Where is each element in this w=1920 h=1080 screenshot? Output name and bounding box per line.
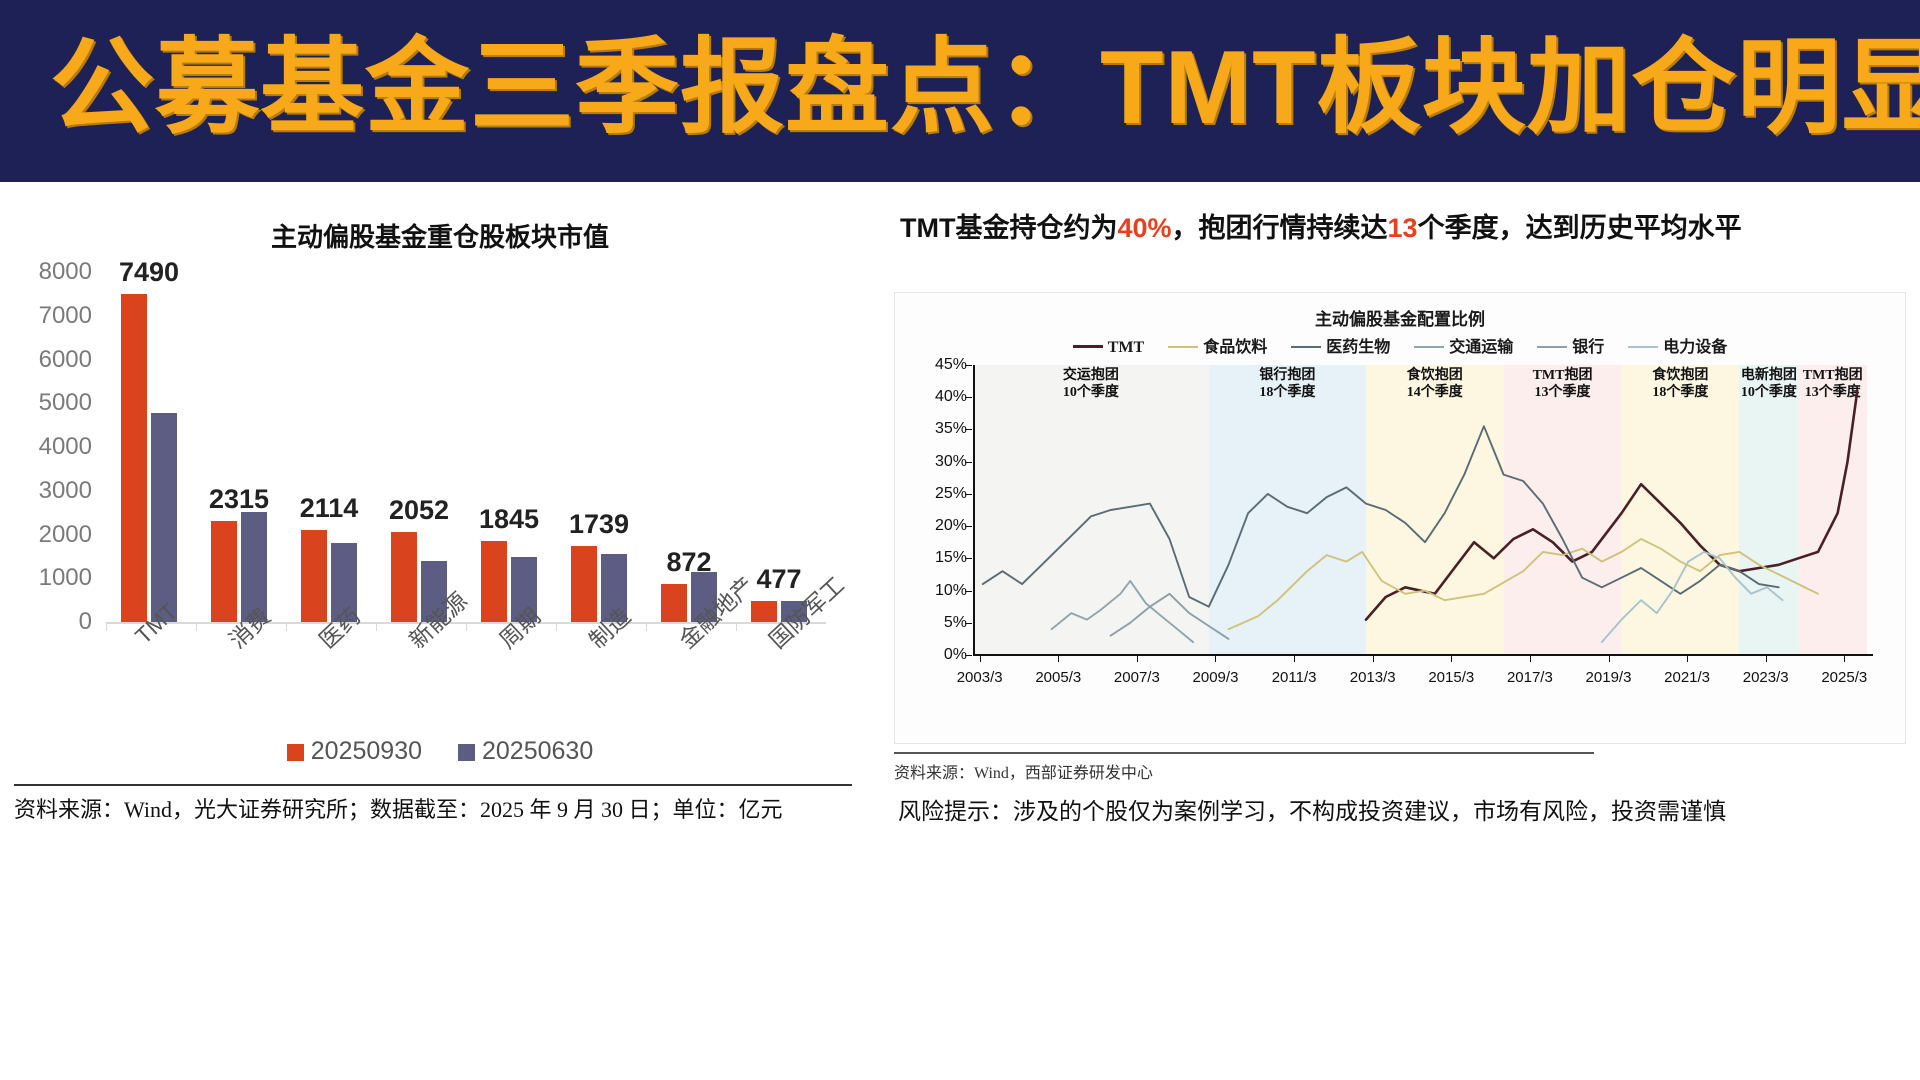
- line-chart-title: 主动偏股基金配置比例: [895, 305, 1905, 330]
- line-y-tick: 45%: [909, 356, 967, 374]
- line-legend-item-食品饮料: 食品饮料: [1168, 333, 1267, 357]
- line-x-tick-mark: [1058, 655, 1059, 662]
- bar-plot-area: 749023152114205218451739872477: [106, 272, 826, 624]
- bar-20250930: [301, 530, 327, 622]
- bar-y-tick: 8000: [20, 258, 92, 286]
- bar-group: 7490: [106, 272, 196, 622]
- line-x-tick: 2013/3: [1333, 669, 1413, 686]
- line-y-tick: 15%: [909, 549, 967, 567]
- headline-percent: 40%: [1117, 213, 1171, 243]
- line-x-tick-mark: [1294, 655, 1295, 662]
- legend-item-20250630: 20250630: [458, 737, 593, 767]
- line-y-tick: 20%: [909, 517, 967, 535]
- line-x-tick-mark: [1687, 655, 1688, 662]
- line-x-tick: 2021/3: [1647, 669, 1727, 686]
- line-x-tick: 2011/3: [1254, 669, 1334, 686]
- bar-group: 1845: [466, 272, 556, 622]
- line-plot-area: 0%5%10%15%20%25%30%35%40%45% 2003/32005/…: [973, 365, 1873, 655]
- line-series-电力设备: [1602, 552, 1783, 642]
- right-headline: TMT基金持仓约为40%，抱团行情持续达13个季度，达到历史平均水平: [900, 206, 1920, 245]
- line-series-食品饮料: [1229, 539, 1819, 629]
- bar-y-tick: 1000: [20, 564, 92, 592]
- line-y-tick-mark: [965, 397, 972, 398]
- line-legend-item-交通运输: 交通运输: [1414, 333, 1513, 357]
- line-x-tick: 2025/3: [1804, 669, 1884, 686]
- line-x-axis: 2003/32005/32007/32009/32011/32013/32015…: [933, 661, 1913, 691]
- line-x-tick-mark: [980, 655, 981, 662]
- line-y-tick: 10%: [909, 582, 967, 600]
- line-y-tick-mark: [965, 494, 972, 495]
- line-series-交通运输: [1052, 581, 1194, 642]
- bar-x-tick-mark: [736, 622, 737, 631]
- line-chart-card: 主动偏股基金配置比例 TMT食品饮料医药生物交通运输银行电力设备 0%5%10%…: [894, 292, 1906, 744]
- left-chart-panel: 主动偏股基金重仓股板块市值 80007000600050004000300020…: [0, 192, 880, 852]
- line-x-tick: 2009/3: [1175, 669, 1255, 686]
- line-y-tick-mark: [965, 558, 972, 559]
- line-chart-legend: TMT食品饮料医药生物交通运输银行电力设备: [895, 333, 1905, 357]
- bar-20250930: [211, 521, 237, 622]
- bar-20250930: [391, 532, 417, 622]
- headline-prefix: TMT基金持仓约为: [900, 213, 1117, 243]
- line-series-TMT: [1366, 391, 1857, 620]
- line-legend-label: 电力设备: [1663, 339, 1727, 356]
- right-source-note: 资料来源：Wind，西部证券研发中心: [894, 759, 1594, 783]
- bar-20250930: [121, 294, 147, 622]
- line-x-tick-mark: [1844, 655, 1845, 662]
- line-x-tick-mark: [1766, 655, 1767, 662]
- line-legend-swatch: [1628, 346, 1658, 348]
- banner-underline: [0, 182, 1920, 188]
- bar-x-tick-mark: [646, 622, 647, 631]
- line-legend-swatch: [1291, 346, 1321, 348]
- bar-group: 477: [736, 272, 826, 622]
- line-legend-swatch: [1537, 346, 1567, 348]
- line-legend-label: TMT: [1108, 339, 1144, 356]
- line-series-svg: [973, 365, 1873, 655]
- line-y-tick: 35%: [909, 420, 967, 438]
- bar-20250630: [151, 413, 177, 622]
- bar-y-tick: 7000: [20, 302, 92, 330]
- line-x-tick: 2007/3: [1097, 669, 1177, 686]
- line-legend-item-电力设备: 电力设备: [1628, 333, 1727, 357]
- headline-suffix: 个季度，达到历史平均水平: [1418, 213, 1742, 243]
- line-x-tick-mark: [1215, 655, 1216, 662]
- legend-label: 20250930: [311, 737, 422, 765]
- line-legend-label: 交通运输: [1449, 339, 1513, 356]
- line-legend-item-医药生物: 医药生物: [1291, 333, 1390, 357]
- left-source-note: 资料来源：Wind，光大证券研究所；数据截至：2025 年 9 月 30 日；单…: [14, 792, 874, 824]
- legend-swatch: [458, 744, 475, 761]
- line-y-axis: 0%5%10%15%20%25%30%35%40%45%: [909, 365, 967, 655]
- bar-y-tick: 6000: [20, 346, 92, 374]
- bar-y-tick: 5000: [20, 389, 92, 417]
- bar-y-tick: 4000: [20, 433, 92, 461]
- bar-group: 2052: [376, 272, 466, 622]
- bar-group: 2315: [196, 272, 286, 622]
- line-x-tick: 2023/3: [1726, 669, 1806, 686]
- line-y-tick-mark: [965, 655, 972, 656]
- right-source-divider: [894, 752, 1594, 754]
- bar-x-tick-mark: [196, 622, 197, 631]
- bar-y-tick: 0: [20, 608, 92, 636]
- headline-mid: ，抱团行情持续达: [1172, 213, 1388, 243]
- bar-y-tick: 2000: [20, 521, 92, 549]
- bar-x-tick-mark: [286, 622, 287, 631]
- line-legend-item-TMT: TMT: [1073, 339, 1144, 357]
- line-x-tick-mark: [1530, 655, 1531, 662]
- line-y-tick-mark: [965, 462, 972, 463]
- page-title: 公募基金三季报盘点：TMT板块加仓明显: [50, 18, 1880, 158]
- line-y-tick-mark: [965, 591, 972, 592]
- left-source-divider: [14, 784, 852, 786]
- line-x-tick-mark: [1137, 655, 1138, 662]
- bar-x-tick-mark: [556, 622, 557, 631]
- line-y-tick-mark: [965, 526, 972, 527]
- title-banner: 公募基金三季报盘点：TMT板块加仓明显: [0, 0, 1920, 182]
- line-y-tick: 30%: [909, 453, 967, 471]
- bar-group: 2114: [286, 272, 376, 622]
- risk-disclosure-note: 风险提示：涉及的个股仅为案例学习，不构成投资建议，市场有风险，投资需谨慎: [898, 792, 1918, 826]
- bar-x-tick-mark: [466, 622, 467, 631]
- line-legend-item-银行: 银行: [1537, 333, 1604, 357]
- line-x-tick-mark: [1373, 655, 1374, 662]
- line-x-tick: 2003/3: [940, 669, 1020, 686]
- bar-x-tick-mark: [106, 622, 107, 631]
- line-y-tick-mark: [965, 429, 972, 430]
- bar-20250930: [481, 541, 507, 622]
- headline-quarters: 13: [1388, 213, 1418, 243]
- line-x-tick: 2019/3: [1569, 669, 1649, 686]
- right-chart-panel: TMT基金持仓约为40%，抱团行情持续达13个季度，达到历史平均水平 主动偏股基…: [880, 192, 1920, 852]
- line-y-tick-mark: [965, 623, 972, 624]
- bar-20250930: [571, 546, 597, 622]
- line-legend-label: 银行: [1572, 339, 1604, 356]
- line-y-tick: 25%: [909, 485, 967, 503]
- bar-chart-title: 主动偏股基金重仓股板块市值: [0, 217, 880, 254]
- bar-chart-legend: 2025093020250630: [0, 737, 880, 767]
- bar-chart-plot: 800070006000500040003000200010000 749023…: [18, 272, 868, 667]
- legend-swatch: [287, 744, 304, 761]
- bar-value-label: 7490: [84, 257, 214, 288]
- line-y-tick: 40%: [909, 388, 967, 406]
- line-x-tick: 2005/3: [1018, 669, 1098, 686]
- legend-label: 20250630: [482, 737, 593, 765]
- line-x-tick: 2017/3: [1490, 669, 1570, 686]
- line-legend-swatch: [1414, 346, 1444, 348]
- bar-y-tick: 3000: [20, 477, 92, 505]
- bar-x-tick-mark: [376, 622, 377, 631]
- line-x-tick-mark: [1451, 655, 1452, 662]
- line-legend-label: 医药生物: [1326, 339, 1390, 356]
- bar-value-label: 1739: [534, 509, 664, 540]
- line-y-tick-mark: [965, 365, 972, 366]
- line-legend-swatch: [1168, 346, 1198, 348]
- line-legend-label: 食品饮料: [1203, 339, 1267, 356]
- legend-item-20250930: 20250930: [287, 737, 422, 767]
- line-legend-swatch: [1073, 345, 1103, 348]
- bar-y-axis: 800070006000500040003000200010000: [18, 272, 98, 622]
- line-x-tick: 2015/3: [1411, 669, 1491, 686]
- line-y-tick: 5%: [909, 614, 967, 632]
- line-x-tick-mark: [1609, 655, 1610, 662]
